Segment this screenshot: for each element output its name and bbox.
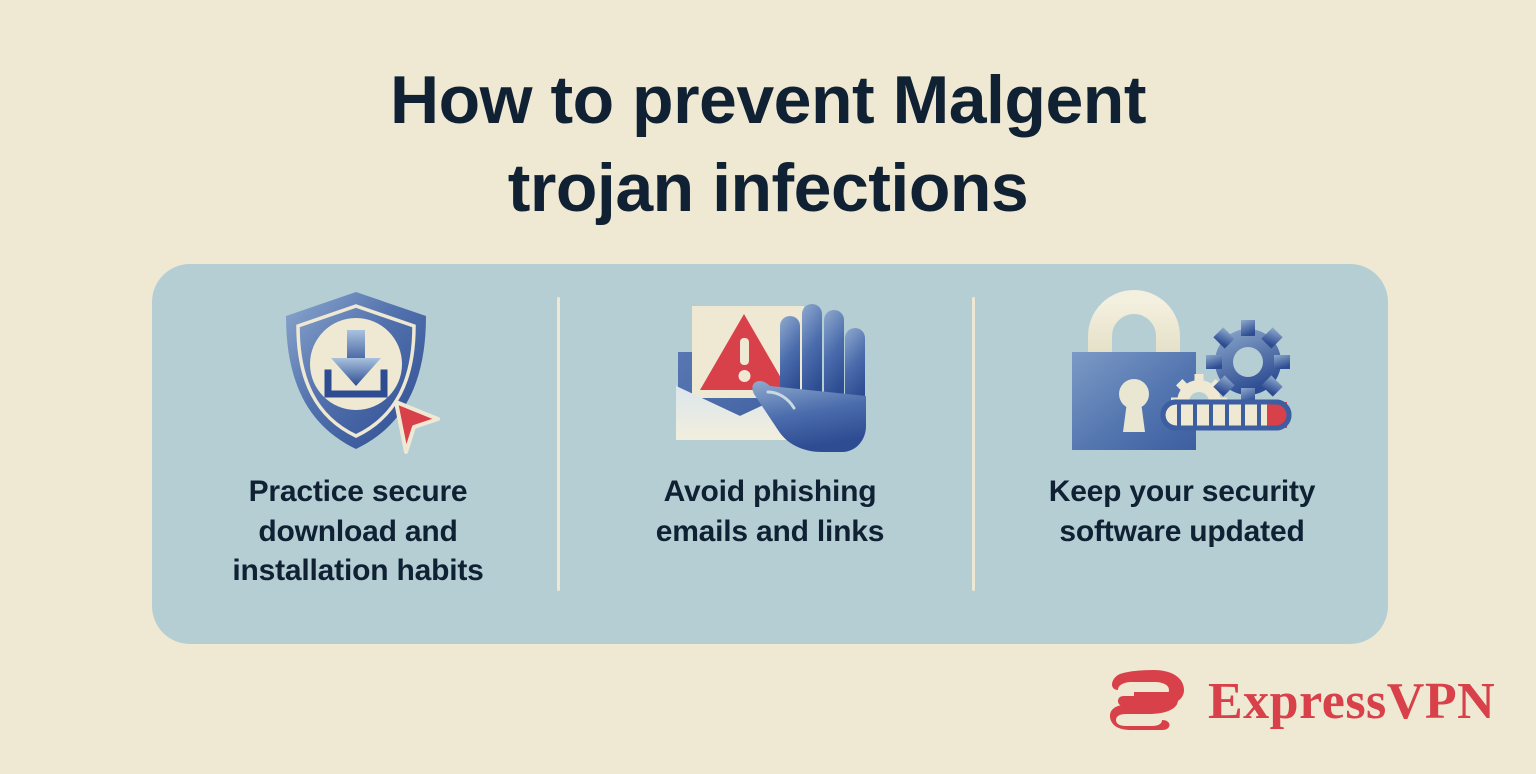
tip-caption-1-line-3: installation habits xyxy=(232,551,483,591)
shield-download-cursor-icon xyxy=(268,286,448,462)
tip-caption-3-line-1: Keep your security xyxy=(1049,472,1316,512)
expressvpn-wordmark: ExpressVPN xyxy=(1208,676,1495,728)
page-title-line-1: How to prevent Malgent xyxy=(0,56,1536,144)
tip-column-2: Avoid phishing emails and links xyxy=(564,264,976,644)
infographic-canvas: How to prevent Malgent trojan infections xyxy=(0,0,1536,774)
tip-column-1: Practice secure download and installatio… xyxy=(152,264,564,644)
tip-caption-1-line-2: download and xyxy=(232,512,483,552)
expressvpn-e-mark-icon xyxy=(1110,668,1186,735)
tip-caption-1: Practice secure download and installatio… xyxy=(232,472,483,591)
tip-caption-2-line-1: Avoid phishing xyxy=(656,472,885,512)
tips-card: Practice secure download and installatio… xyxy=(152,264,1388,644)
tip-caption-1-line-1: Practice secure xyxy=(232,472,483,512)
page-title: How to prevent Malgent trojan infections xyxy=(0,56,1536,233)
padlock-gears-progress-icon xyxy=(1066,286,1298,462)
tip-caption-2: Avoid phishing emails and links xyxy=(656,472,885,551)
tip-caption-2-line-2: emails and links xyxy=(656,512,885,552)
phishing-email-stop-hand-icon xyxy=(670,286,870,462)
expressvpn-logo: ExpressVPN xyxy=(1110,668,1495,735)
tip-column-3: Keep your security software updated xyxy=(976,264,1388,644)
tip-caption-3-line-2: software updated xyxy=(1049,512,1316,552)
tip-caption-3: Keep your security software updated xyxy=(1049,472,1316,551)
page-title-line-2: trojan infections xyxy=(0,144,1536,232)
